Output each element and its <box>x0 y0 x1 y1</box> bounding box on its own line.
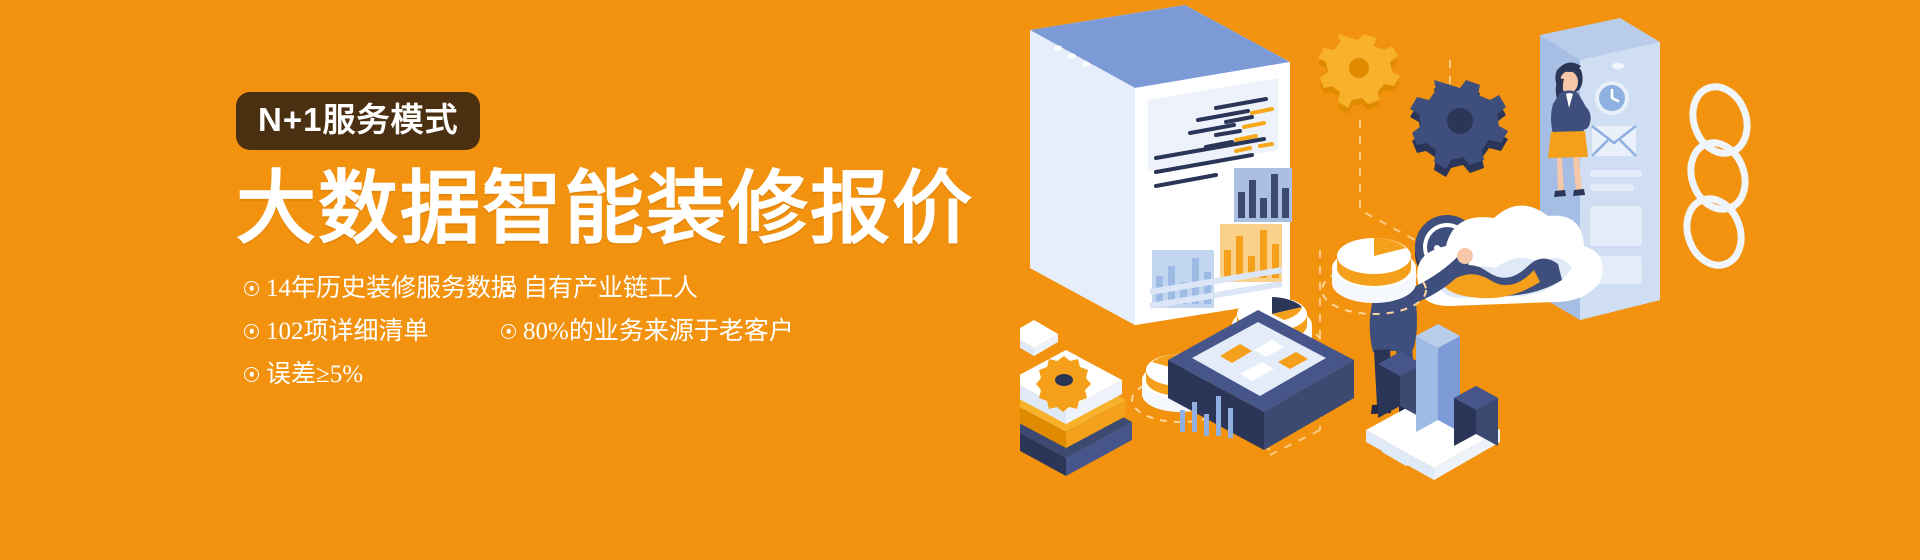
gear-orange-icon <box>1318 34 1400 114</box>
list-item: 自有产业链工人 <box>501 276 794 301</box>
bullets-left-column: 14年历史装修服务数据 102项详细清单 误差≥5% <box>244 276 516 405</box>
circle-dot-icon <box>501 281 516 296</box>
banner-text-block: N+1服务模式 大数据智能装修报价 14年历史装修服务数据 102项详细清单 误… <box>236 92 956 396</box>
promo-banner: N+1服务模式 大数据智能装修报价 14年历史装修服务数据 102项详细清单 误… <box>0 0 1920 560</box>
list-item: 14年历史装修服务数据 <box>244 276 516 301</box>
circle-dot-icon <box>501 324 516 339</box>
bullet-label: 自有产业链工人 <box>523 276 698 301</box>
list-item: 80%的业务来源于老客户 <box>501 319 794 344</box>
bullets-right-column: 自有产业链工人 80%的业务来源于老客户 <box>501 276 794 362</box>
circle-dot-icon <box>244 281 259 296</box>
ring-arcs <box>1678 79 1756 273</box>
service-mode-badge: N+1服务模式 <box>236 92 480 150</box>
list-item: 误差≥5% <box>244 362 516 387</box>
server-box <box>1168 310 1354 450</box>
feature-bullets: 14年历史装修服务数据 102项详细清单 误差≥5% 自有产业链工人 <box>236 276 876 396</box>
circle-dot-icon <box>244 324 259 339</box>
circle-dot-icon <box>244 367 259 382</box>
gear-navy-icon <box>1410 80 1508 177</box>
bullet-label: 102项详细清单 <box>266 319 429 344</box>
gear-platform <box>1020 350 1132 476</box>
bullet-label: 80%的业务来源于老客户 <box>523 319 794 344</box>
bullet-label: 误差≥5% <box>266 362 363 387</box>
list-item: 102项详细清单 <box>244 319 516 344</box>
isometric-illustration <box>1020 0 1920 560</box>
page-title: 大数据智能装修报价 <box>236 168 956 250</box>
bullet-label: 14年历史装修服务数据 <box>266 276 516 301</box>
browser-window-chart <box>1030 5 1292 325</box>
